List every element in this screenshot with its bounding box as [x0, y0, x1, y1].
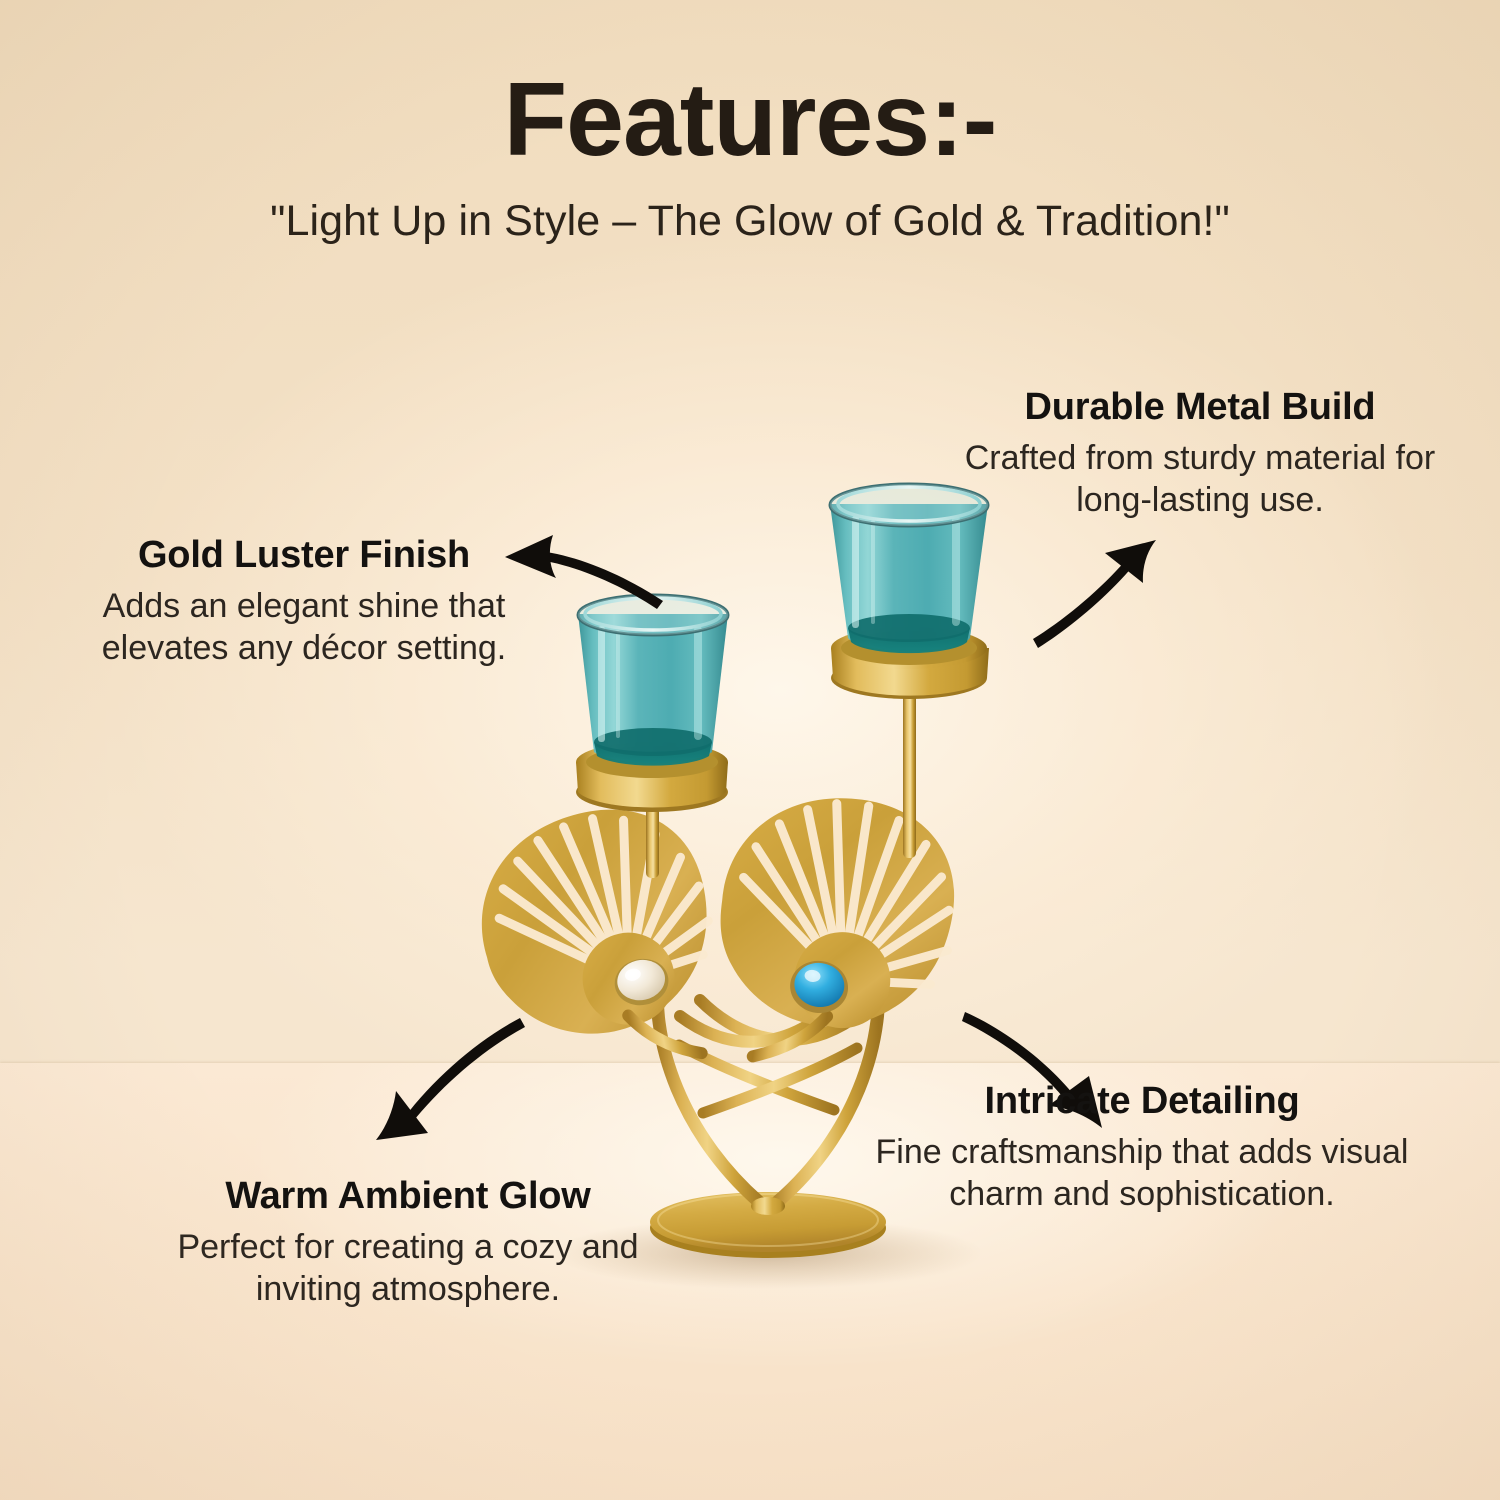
curved-arrow-up-right-icon [1033, 540, 1156, 648]
feature-title: Intricate Detailing [862, 1080, 1422, 1123]
feature-warm-ambient-glow: Warm Ambient Glow Perfect for creating a… [148, 1175, 668, 1310]
left-peacock-leaf [461, 791, 737, 1092]
feature-title: Warm Ambient Glow [148, 1175, 668, 1218]
feature-description: Crafted from sturdy material for long-la… [940, 437, 1460, 521]
feature-durable-metal-build: Durable Metal Build Crafted from sturdy … [940, 386, 1460, 521]
curved-arrow-down-left-icon [376, 1018, 525, 1140]
base-knot [751, 1197, 785, 1215]
feature-description: Adds an elegant shine that elevates any … [78, 585, 530, 669]
right-stem [903, 676, 916, 858]
left-votive [576, 595, 728, 812]
feature-gold-luster-finish: Gold Luster Finish Adds an elegant shine… [78, 534, 530, 669]
feature-title: Durable Metal Build [940, 386, 1460, 429]
feature-intricate-detailing: Intricate Detailing Fine craftsmanship t… [862, 1080, 1422, 1215]
feature-description: Perfect for creating a cozy and inviting… [148, 1226, 668, 1310]
feature-description: Fine craftsmanship that adds visual char… [862, 1131, 1422, 1215]
feature-title: Gold Luster Finish [78, 534, 530, 577]
